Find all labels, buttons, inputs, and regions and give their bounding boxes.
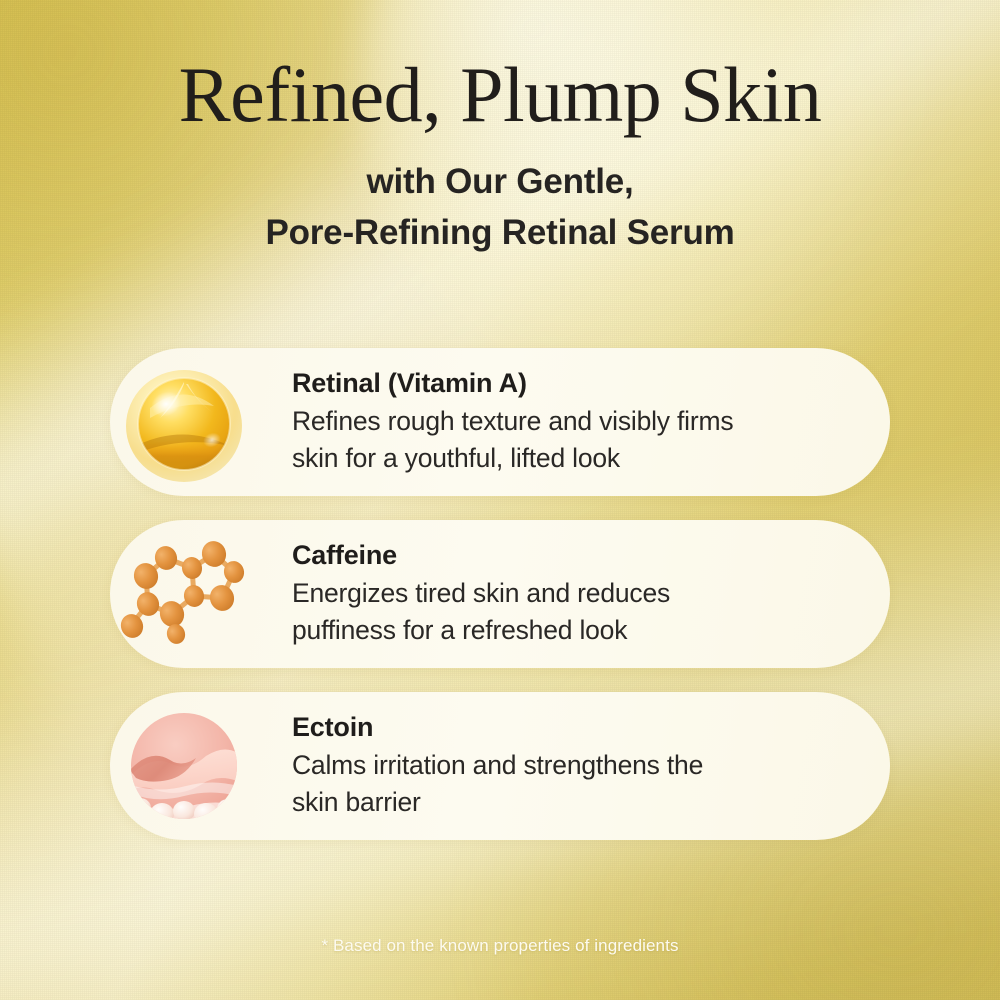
page-subtitle-line-1: with Our Gentle, (0, 156, 1000, 207)
page-subtitle-line-2: Pore-Refining Retinal Serum (0, 207, 1000, 258)
ingredient-card-text: Retinal (Vitamin A) Refines rough textur… (292, 367, 890, 477)
ingredient-card-retinal[interactable]: Retinal (Vitamin A) Refines rough textur… (110, 348, 890, 496)
ingredient-card-text: Ectoin Calms irritation and strengthens … (292, 711, 890, 821)
headline-block: Refined, Plump Skin with Our Gentle, Por… (0, 0, 1000, 259)
ingredient-description-line-2: puffiness for a refreshed look (292, 612, 834, 649)
ingredient-description-line-1: Refines rough texture and visibly firms (292, 403, 834, 440)
ingredient-title: Caffeine (292, 539, 834, 573)
poster-canvas: Refined, Plump Skin with Our Gentle, Por… (0, 0, 1000, 1000)
ingredient-description: Refines rough texture and visibly firms … (292, 403, 834, 477)
ingredient-description-line-1: Calms irritation and strengthens the (292, 747, 834, 784)
ingredient-title: Retinal (Vitamin A) (292, 367, 834, 401)
ingredient-card-text: Caffeine Energizes tired skin and reduce… (292, 539, 890, 649)
ingredient-description-line-1: Energizes tired skin and reduces (292, 575, 834, 612)
golden-serum-droplet-icon (110, 348, 258, 496)
ingredient-card-caffeine[interactable]: Caffeine Energizes tired skin and reduce… (110, 520, 890, 668)
ingredient-card-list: Retinal (Vitamin A) Refines rough textur… (110, 348, 890, 864)
ingredient-description: Calms irritation and strengthens the ski… (292, 747, 834, 821)
disclaimer-footnote: * Based on the known properties of ingre… (0, 936, 1000, 956)
page-subtitle: with Our Gentle, Pore-Refining Retinal S… (0, 134, 1000, 259)
ingredient-title: Ectoin (292, 711, 834, 745)
ingredient-description-line-2: skin barrier (292, 784, 834, 821)
ingredient-card-ectoin[interactable]: Ectoin Calms irritation and strengthens … (110, 692, 890, 840)
caffeine-molecule-icon (110, 520, 258, 668)
ingredient-description: Energizes tired skin and reduces puffine… (292, 575, 834, 649)
ingredient-description-line-2: skin for a youthful, lifted look (292, 440, 834, 477)
skin-barrier-icon (110, 692, 258, 840)
page-title: Refined, Plump Skin (0, 0, 1000, 134)
